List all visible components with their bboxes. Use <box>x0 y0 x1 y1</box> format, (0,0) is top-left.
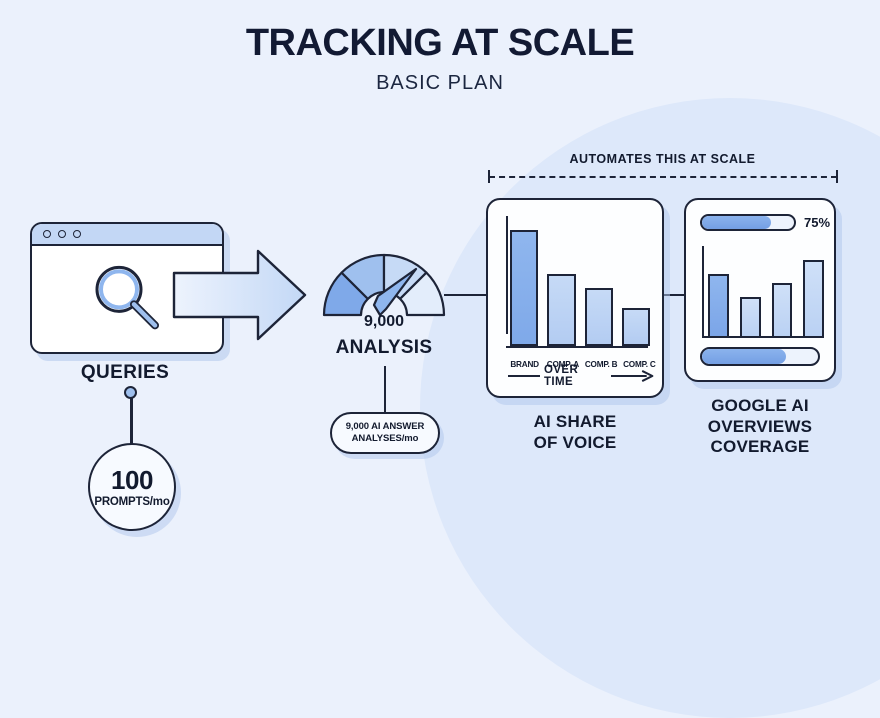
prompts-value: 100 <box>111 467 153 493</box>
page-subtitle: BASIC PLAN <box>0 72 880 95</box>
gaio-caption-line2: OVERVIEWS <box>676 417 844 438</box>
analysis-gauge <box>318 243 450 321</box>
gaio-caption-line3: COVERAGE <box>676 437 844 458</box>
bracket-dashed-line <box>489 176 837 178</box>
sov-over-time-axis: OVER TIME <box>508 364 654 388</box>
automates-bracket-label: AUTOMATES THIS AT SCALE <box>485 152 840 166</box>
gaio-top-progress-bar <box>700 214 796 231</box>
window-dot-3 <box>73 230 81 238</box>
sov-caption-line1: AI SHARE <box>486 412 664 433</box>
analyses-badge-line1: 9,000 AI ANSWER <box>346 421 425 433</box>
over-time-line-left <box>508 375 540 377</box>
gaio-bottom-progress-fill <box>702 349 786 364</box>
gaio-bottom-progress-bar <box>700 347 820 366</box>
sov-bar-group <box>510 230 650 346</box>
analyses-badge-line2: ANALYSES/mo <box>352 433 419 445</box>
gaio-bar-3 <box>772 283 793 338</box>
gaio-progress-percent: 75% <box>804 215 830 230</box>
prompts-badge: 100 PROMPTS/mo <box>88 443 176 531</box>
sov-caption-line2: OF VOICE <box>486 433 664 454</box>
prompts-unit: PROMPTS/mo <box>94 496 169 508</box>
sov-bar-comp-c <box>622 308 650 346</box>
connector-sov-to-gaio <box>662 294 686 296</box>
prompts-connector-dot <box>124 386 137 399</box>
sov-caption: AI SHARE OF VOICE <box>486 412 664 453</box>
window-dot-2 <box>58 230 66 238</box>
gaio-caption: GOOGLE AI OVERVIEWS COVERAGE <box>676 396 844 458</box>
sov-y-axis <box>506 216 508 334</box>
arrow-right-icon <box>611 370 654 382</box>
page-title: TRACKING AT SCALE <box>0 22 880 65</box>
gaio-bar-1 <box>708 274 729 338</box>
prompts-connector-line <box>130 392 133 447</box>
gaio-bar-2 <box>740 297 761 338</box>
google-ai-overviews-card: 75% <box>684 198 836 382</box>
sov-bar-brand <box>510 230 538 346</box>
browser-title-bar <box>32 224 222 246</box>
over-time-label: OVER TIME <box>544 364 607 388</box>
gaio-y-axis <box>702 246 704 338</box>
sov-bar-comp-a <box>547 274 575 346</box>
sov-bar-comp-b <box>585 288 613 346</box>
connector-gauge-to-sov <box>444 294 488 296</box>
window-dot-1 <box>43 230 51 238</box>
gaio-bar-4 <box>803 260 824 338</box>
automates-bracket <box>485 170 841 184</box>
gauge-label: ANALYSIS <box>300 337 468 359</box>
gaio-top-progress-fill <box>702 216 771 229</box>
gaio-caption-line1: GOOGLE AI <box>676 396 844 417</box>
gauge-connector-line <box>384 366 386 412</box>
ai-share-of-voice-card: BRAND COMP. A COMP. B COMP. C OVER TIME <box>486 198 664 398</box>
queries-label: QUERIES <box>30 362 220 384</box>
gauge-value: 9,000 <box>318 313 450 331</box>
flow-arrow-icon <box>172 247 308 343</box>
infographic-canvas: TRACKING AT SCALE BASIC PLAN QUERIES <box>0 0 880 530</box>
analyses-badge: 9,000 AI ANSWER ANALYSES/mo <box>330 412 440 454</box>
bracket-cap-right <box>836 170 838 183</box>
sov-x-axis <box>506 346 648 348</box>
magnifying-glass-icon <box>85 255 169 339</box>
gaio-bar-group <box>708 246 824 338</box>
